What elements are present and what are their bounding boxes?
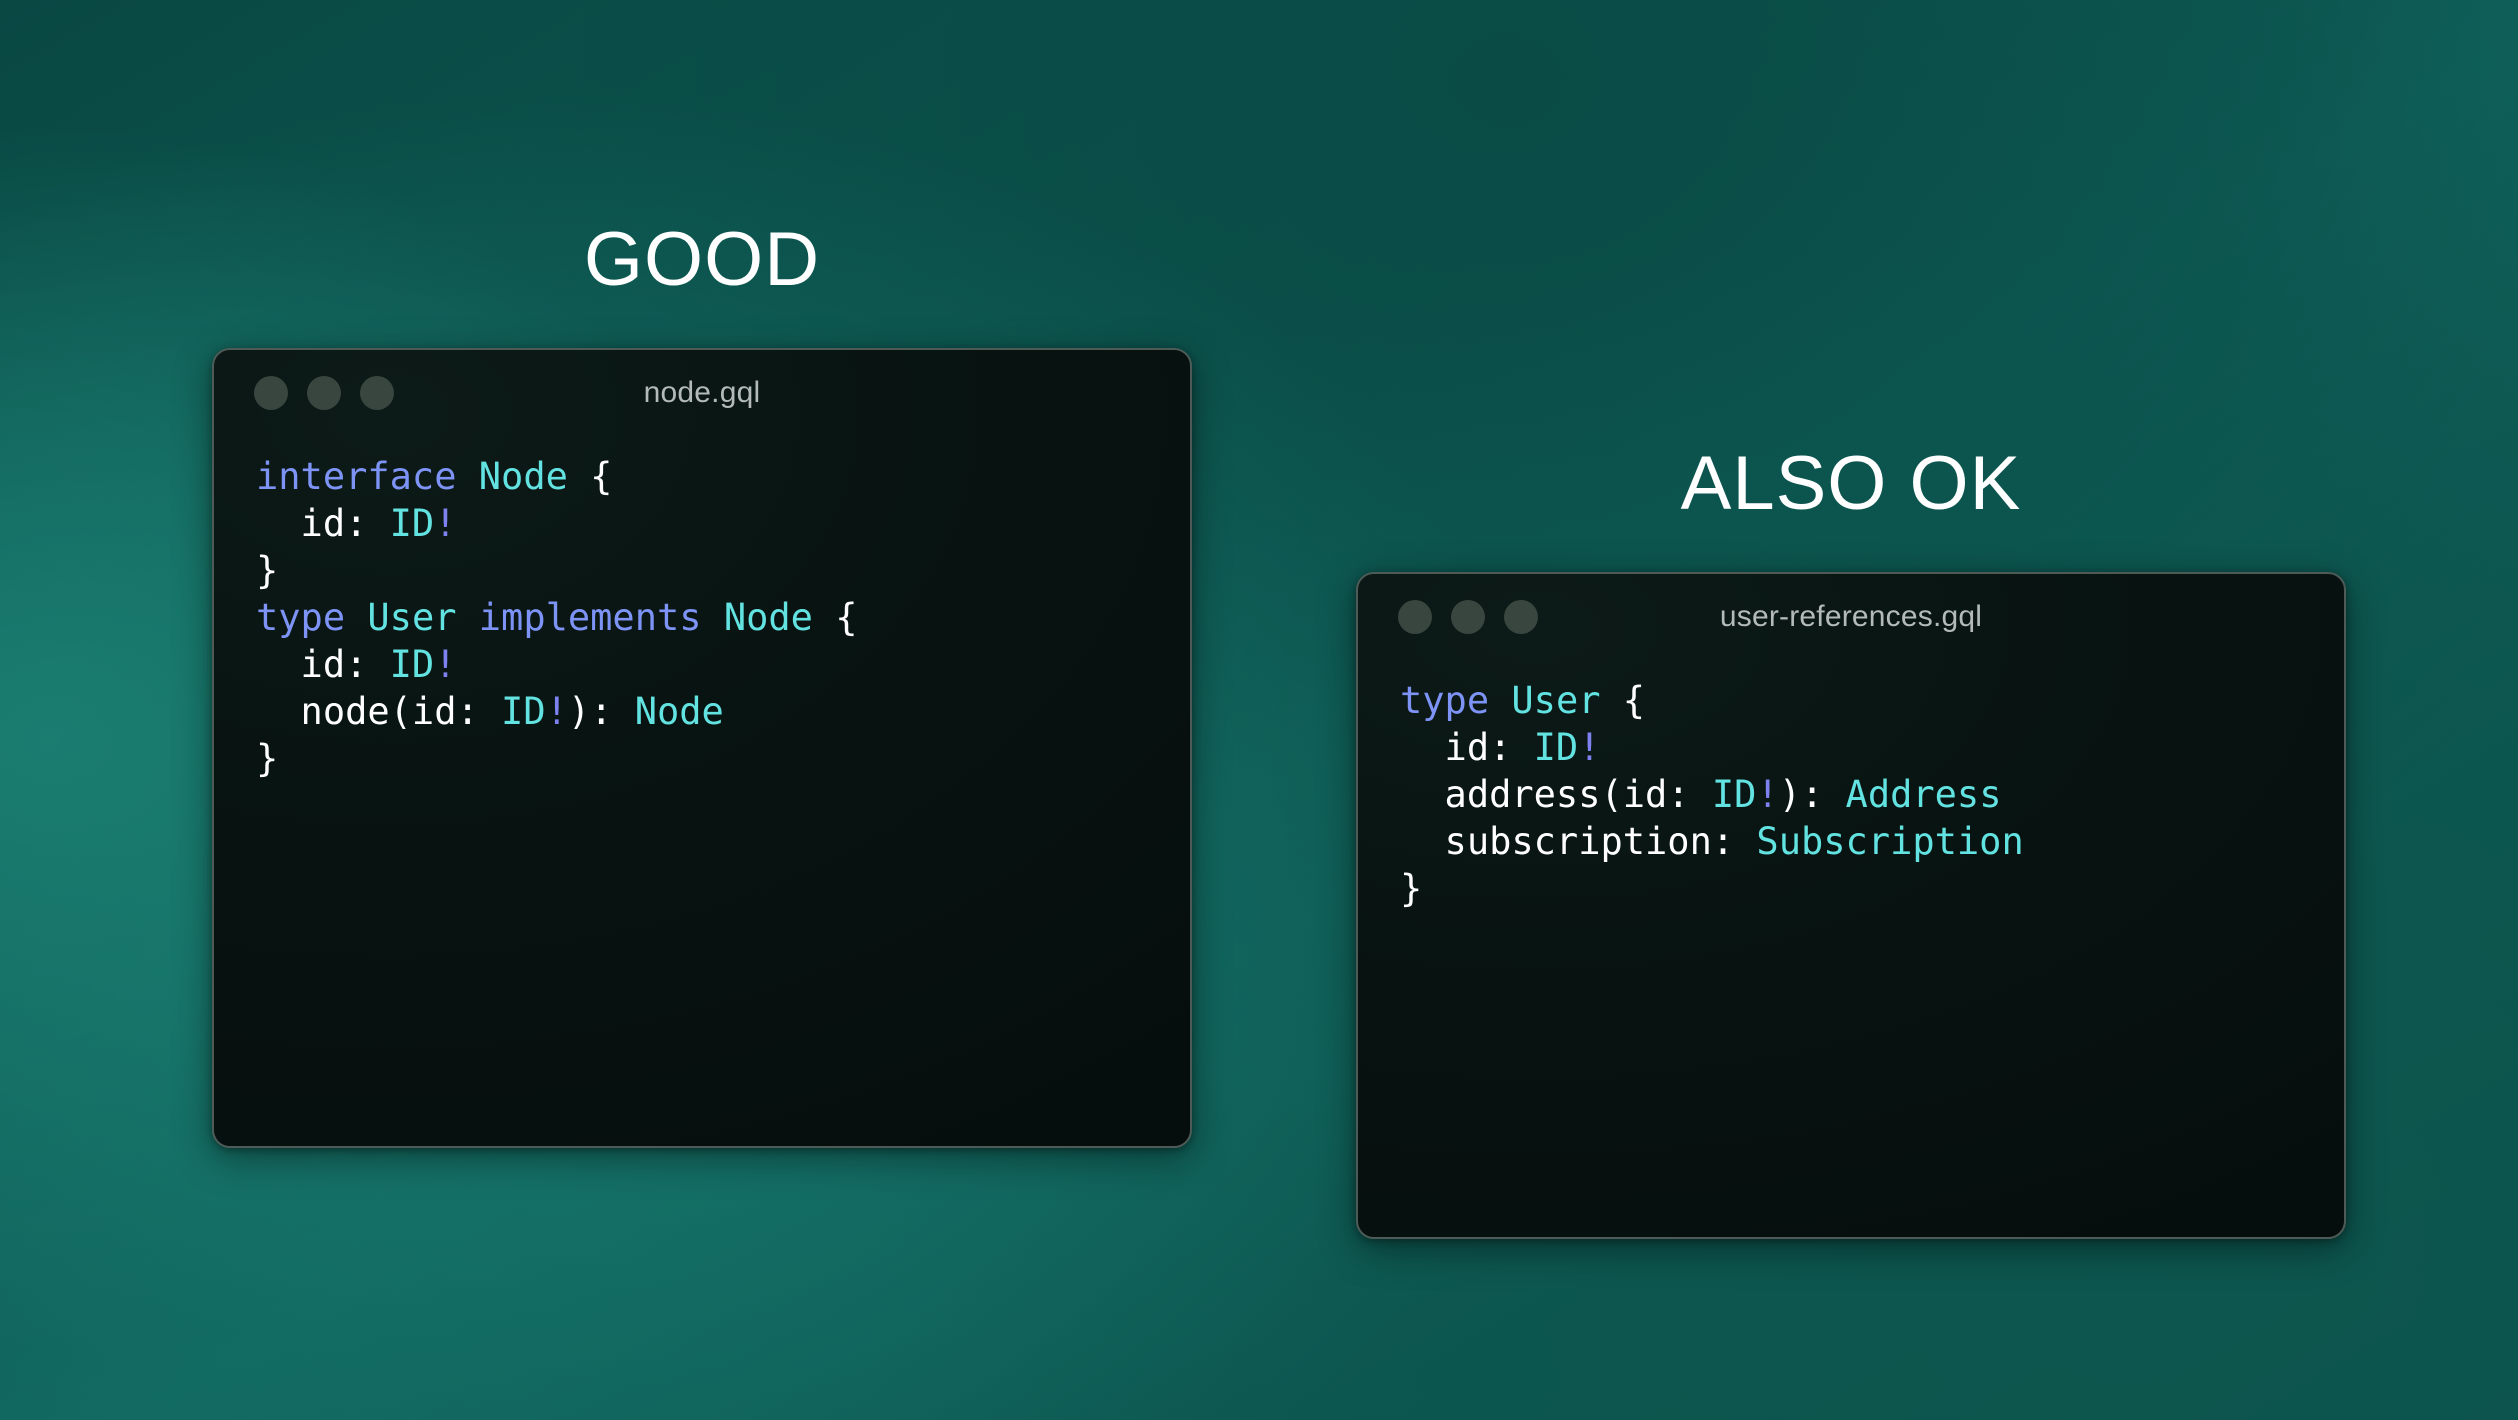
code-line: }	[1400, 866, 2344, 913]
code-line: id: ID!	[1400, 725, 2344, 772]
code-line: interface Node {	[256, 454, 1190, 501]
code-token-pun: subscription:	[1400, 820, 1756, 863]
code-token-typ: Address	[1846, 773, 2002, 816]
code-token-pun: }	[1400, 867, 1422, 910]
code-token-pun: address(id:	[1400, 773, 1712, 816]
code-token-bang: !	[434, 502, 456, 545]
code-token-typ: ID	[501, 690, 546, 733]
code-token-pun: {	[813, 596, 858, 639]
code-token-typ: ID	[390, 643, 435, 686]
code-line: id: ID!	[256, 501, 1190, 548]
code-token-pun	[345, 596, 367, 639]
code-token-typ: Node	[635, 690, 724, 733]
code-line: address(id: ID!): Address	[1400, 772, 2344, 819]
code-window-good: node.gql interface Node { id: ID!}type U…	[212, 348, 1192, 1148]
code-token-bang: !	[434, 643, 456, 686]
code-token-pun	[702, 596, 724, 639]
code-token-pun: ):	[568, 690, 635, 733]
code-token-pun	[456, 455, 478, 498]
code-token-pun: {	[1601, 679, 1646, 722]
window-traffic-lights	[1398, 600, 1538, 634]
code-token-pun	[457, 596, 479, 639]
code-line: type User implements Node {	[256, 595, 1190, 642]
maximize-dot-icon[interactable]	[360, 376, 394, 410]
code-token-pun: {	[568, 455, 613, 498]
panel-heading-also-ok: ALSO OK	[1356, 440, 2346, 527]
code-token-pun: id:	[256, 643, 390, 686]
code-token-typ: Subscription	[1756, 820, 2023, 863]
code-token-kw: interface	[256, 455, 456, 498]
code-token-kw: type	[1400, 679, 1489, 722]
maximize-dot-icon[interactable]	[1504, 600, 1538, 634]
code-block-also-ok: type User { id: ID! address(id: ID!): Ad…	[1358, 660, 2344, 913]
code-token-kw: implements	[479, 596, 702, 639]
code-line: node(id: ID!): Node	[256, 689, 1190, 736]
code-token-bang: !	[546, 690, 568, 733]
code-line: }	[256, 548, 1190, 595]
code-token-pun: id:	[256, 502, 390, 545]
code-token-typ: ID	[1712, 773, 1757, 816]
code-token-bang: !	[1578, 726, 1600, 769]
window-titlebar: user-references.gql	[1358, 574, 2344, 660]
code-token-bang: !	[1756, 773, 1778, 816]
code-token-typ: User	[367, 596, 456, 639]
code-token-typ: ID	[390, 502, 435, 545]
code-token-pun: }	[256, 737, 278, 780]
panel-heading-good: GOOD	[212, 216, 1192, 303]
code-line: id: ID!	[256, 642, 1190, 689]
code-token-pun: node(id:	[256, 690, 501, 733]
code-token-kw: type	[256, 596, 345, 639]
code-block-good: interface Node { id: ID!}type User imple…	[214, 436, 1190, 783]
code-line: subscription: Subscription	[1400, 819, 2344, 866]
close-dot-icon[interactable]	[254, 376, 288, 410]
code-token-typ: ID	[1534, 726, 1579, 769]
close-dot-icon[interactable]	[1398, 600, 1432, 634]
code-token-pun	[1489, 679, 1511, 722]
code-line: }	[256, 736, 1190, 783]
code-token-typ: User	[1511, 679, 1600, 722]
code-token-typ: Node	[479, 455, 568, 498]
window-traffic-lights	[254, 376, 394, 410]
code-token-pun: }	[256, 549, 278, 592]
minimize-dot-icon[interactable]	[307, 376, 341, 410]
code-window-also-ok: user-references.gql type User { id: ID! …	[1356, 572, 2346, 1239]
code-line: type User {	[1400, 678, 2344, 725]
code-token-pun: ):	[1779, 773, 1846, 816]
code-token-typ: Node	[724, 596, 813, 639]
window-titlebar: node.gql	[214, 350, 1190, 436]
code-token-pun: id:	[1400, 726, 1534, 769]
minimize-dot-icon[interactable]	[1451, 600, 1485, 634]
